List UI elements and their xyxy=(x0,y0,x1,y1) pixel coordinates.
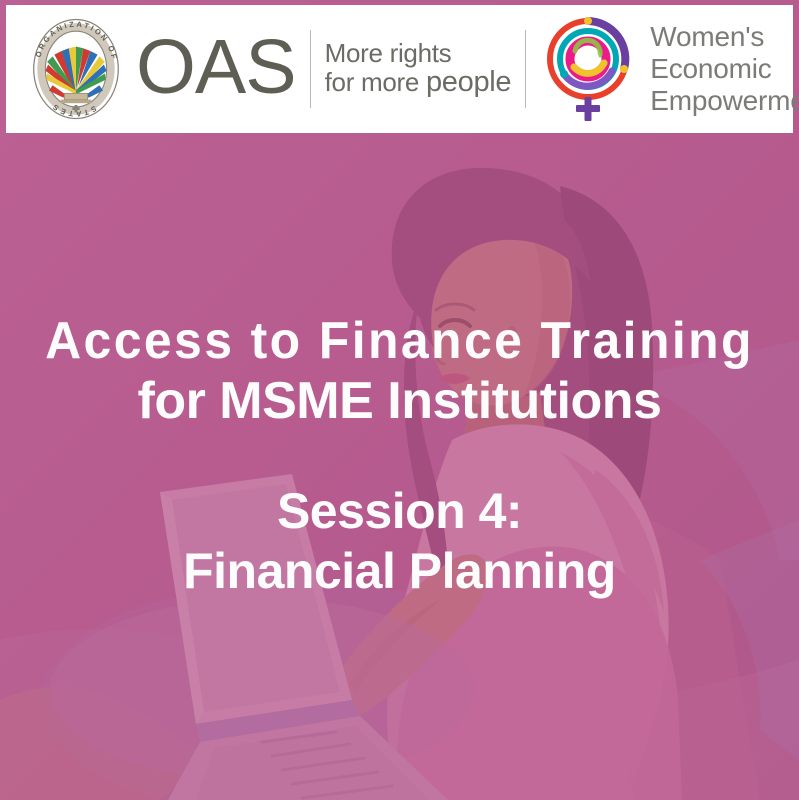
slide-canvas: ORGANIZATION OF AMERICAN STATES OAS More… xyxy=(0,0,799,800)
oas-tagline: More rights for more people xyxy=(325,39,512,98)
oas-wordmark: OAS xyxy=(136,29,296,106)
wee-line-1: Women's xyxy=(650,21,799,53)
wee-wordmark: Women's Economic Empowerment xyxy=(650,21,799,117)
logo-header-band: ORGANIZATION OF AMERICAN STATES OAS More… xyxy=(6,5,793,133)
tagline-line-2-prefix: for more xyxy=(325,67,426,97)
oas-seal-icon: ORGANIZATION OF AMERICAN STATES xyxy=(22,15,130,123)
women-economic-empowerment-rings-icon xyxy=(542,13,638,125)
tagline-line-2-emphasis: people xyxy=(426,66,511,98)
header-divider-1 xyxy=(310,30,311,108)
wee-line-3: Empowerment xyxy=(650,85,799,117)
wee-line-2: Economic xyxy=(650,53,799,85)
tagline-line-2: for more people xyxy=(325,67,512,98)
tagline-line-1: More rights xyxy=(325,39,512,67)
header-divider-2 xyxy=(525,30,526,108)
